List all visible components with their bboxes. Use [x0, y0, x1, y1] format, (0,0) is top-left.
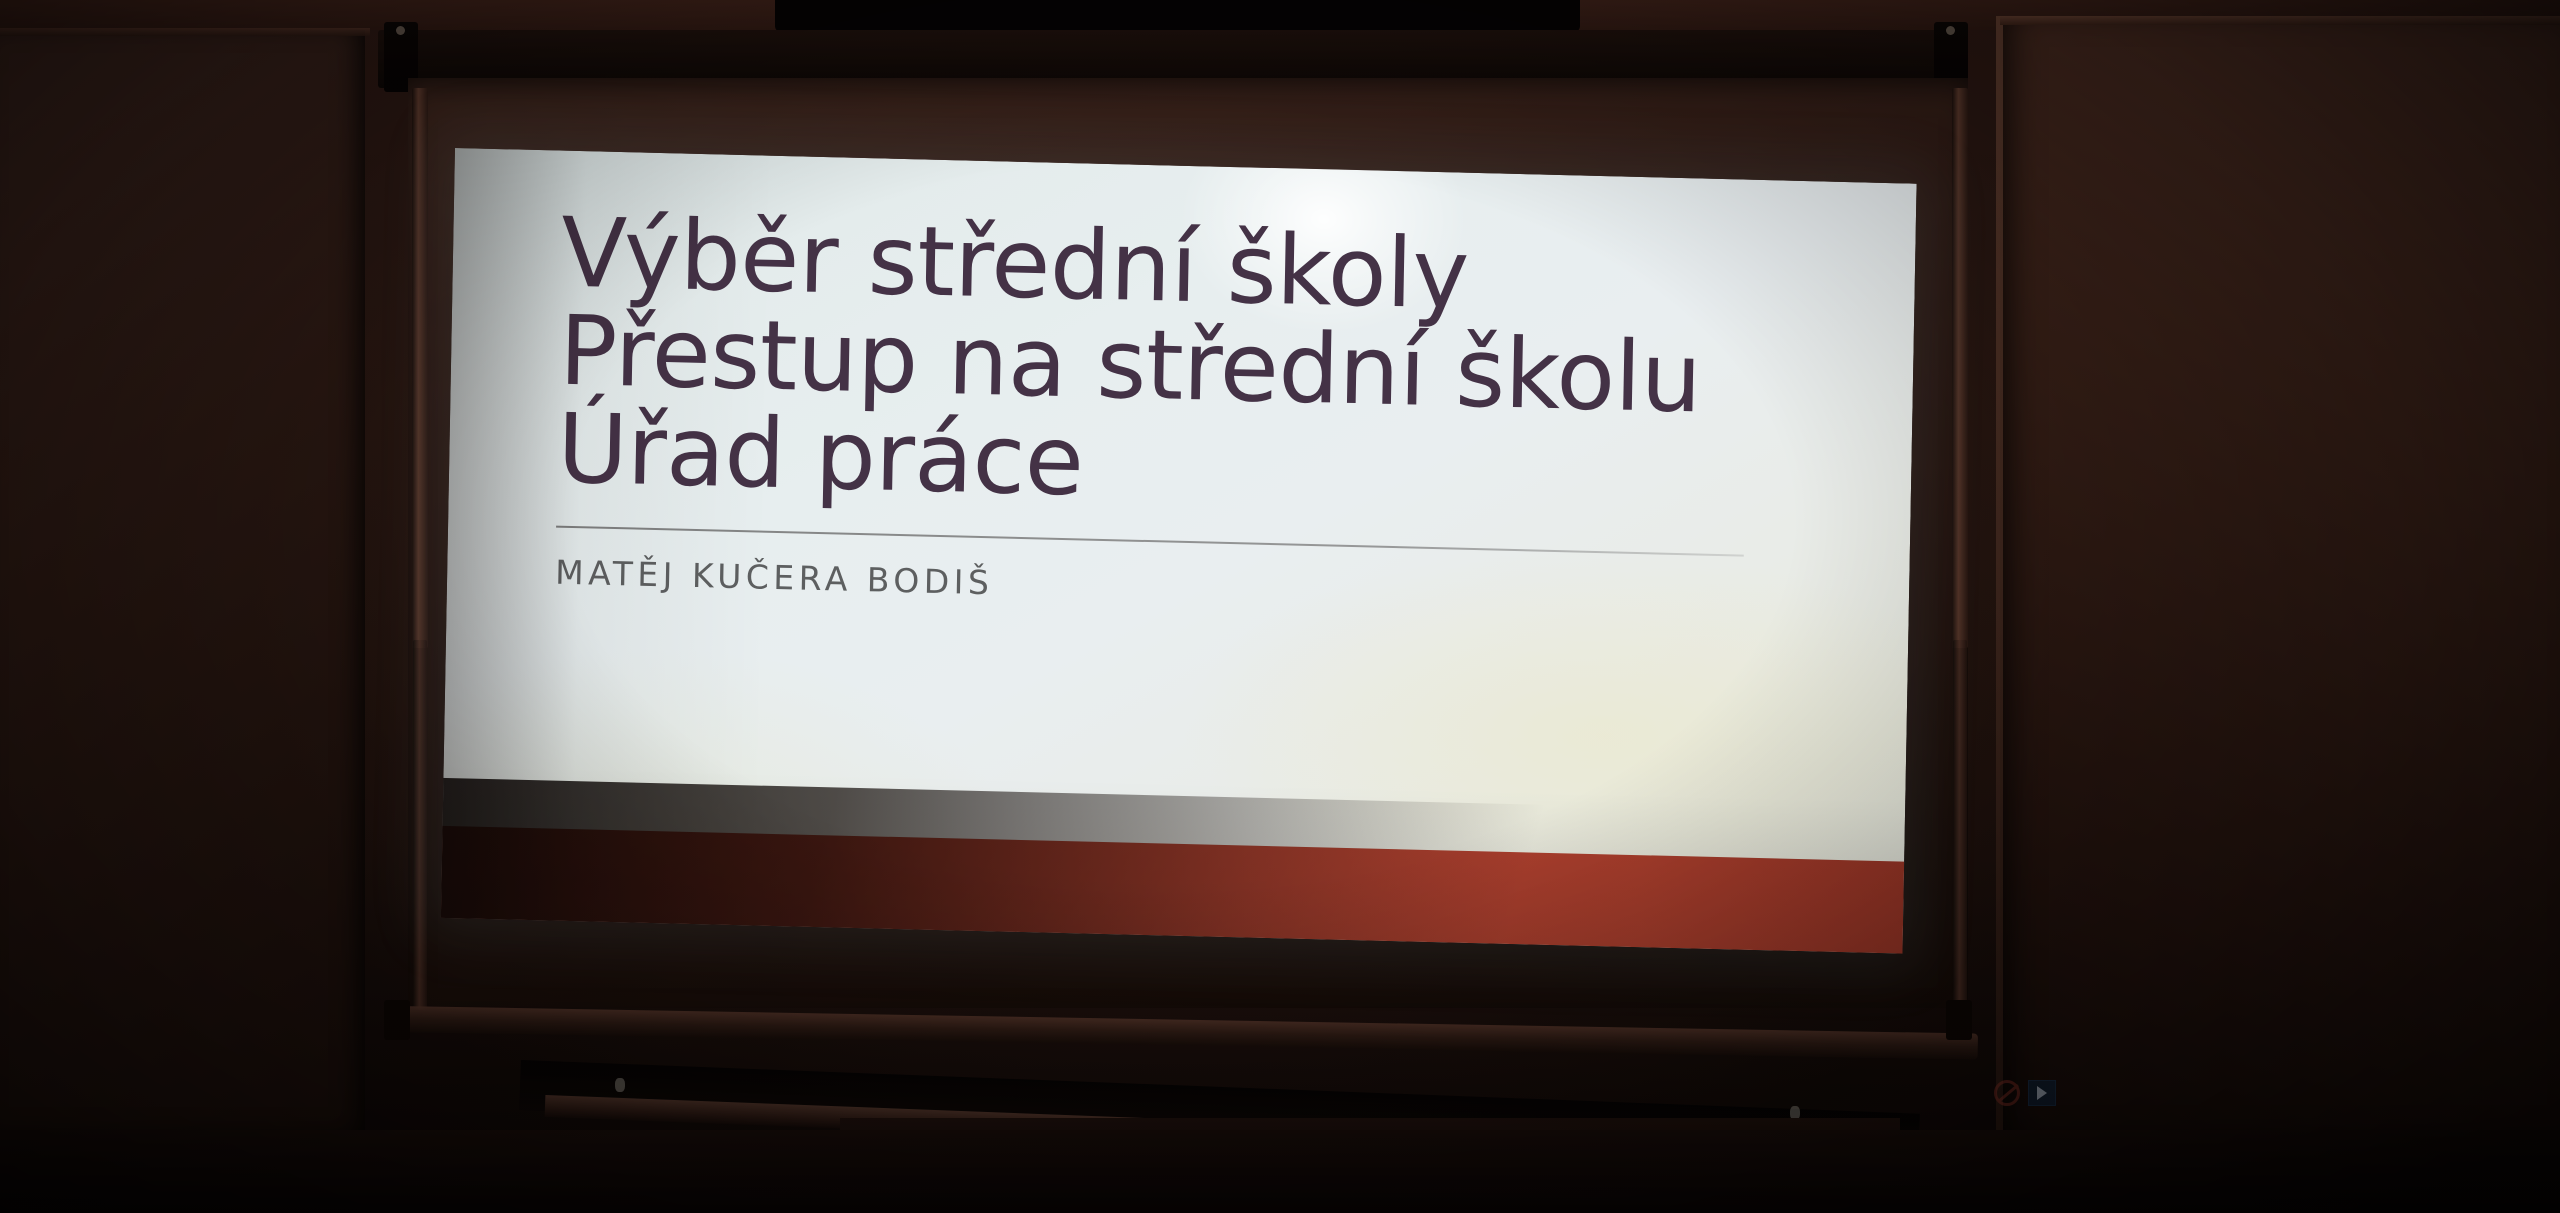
ceiling-dark-recess [775, 0, 1580, 32]
right-wall-panel-edge [1996, 16, 2003, 1136]
screen-tensioner-right-lower [1953, 640, 1967, 1010]
left-wall-panel-top-edge [0, 28, 370, 36]
title-divider-rule [556, 525, 1744, 556]
slide-subtitle: MATĚJ KUČERA BODIŠ [555, 552, 1849, 623]
screen-weight-bar-cap-left [384, 1000, 410, 1040]
screen-tensioner-right [1952, 88, 1968, 648]
left-wall-panel [0, 30, 365, 1130]
slide-background: Výběr střední školy Přestup na střední š… [441, 148, 1917, 954]
projected-slide: Výběr střední školy Přestup na střední š… [441, 148, 1917, 954]
arrow-right-icon [2037, 1086, 2047, 1100]
bracket-screw-right-icon [1946, 26, 1955, 35]
right-wall-panel-top-edge [2000, 16, 2560, 25]
no-smoking-icon [1994, 1080, 2020, 1106]
info-sign [2028, 1080, 2056, 1106]
screen-tensioner-left [412, 88, 428, 648]
screen-tensioner-left-lower [413, 640, 427, 1010]
ledge-marker-1 [615, 1078, 625, 1092]
room-scene: Výběr střední školy Přestup na střední š… [0, 0, 2560, 1213]
bracket-screw-left-icon [396, 26, 405, 35]
slide-text-block: Výběr střední školy Přestup na střední š… [555, 205, 1856, 623]
floor [0, 1130, 2560, 1213]
right-wall-panel [2000, 16, 2560, 1136]
screen-weight-bar-cap-right [1946, 1000, 1972, 1040]
slide-title: Výběr střední školy Přestup na střední š… [557, 205, 1856, 530]
